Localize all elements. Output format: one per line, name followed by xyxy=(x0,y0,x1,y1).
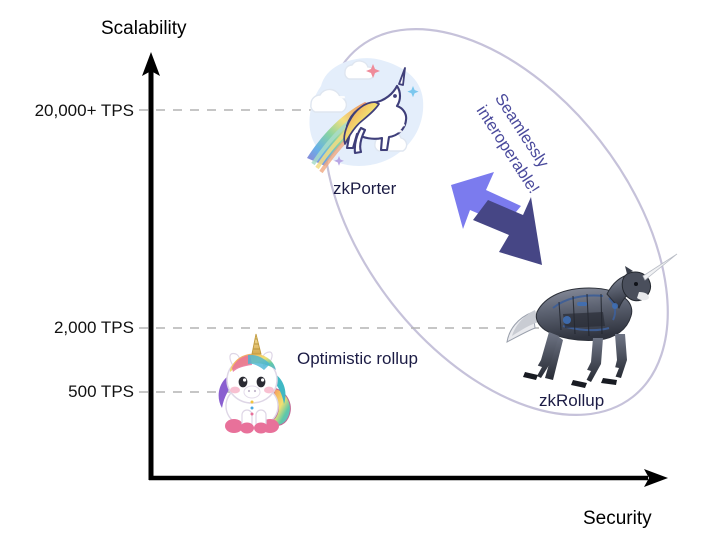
x-axis-title: Security xyxy=(583,508,652,530)
baby-unicorn-icon xyxy=(219,334,291,434)
diagram-vector-layer xyxy=(0,0,720,544)
y-tick-label-20000: 20,000+ TPS xyxy=(0,101,134,121)
node-label-optimistic-rollup: Optimistic rollup xyxy=(297,348,407,370)
zksync-group-ellipse xyxy=(255,0,720,478)
armored-robot-unicorn-icon xyxy=(507,254,677,388)
y-axis-title: Scalability xyxy=(101,18,187,40)
y-tick-label-2000: 2,000 TPS xyxy=(0,318,134,338)
diagram-canvas: Scalability Security 20,000+ TPS 2,000 T… xyxy=(0,0,720,544)
node-label-zkporter: zkPorter xyxy=(333,179,396,199)
y-tick-label-500: 500 TPS xyxy=(0,382,134,402)
node-label-zkrollup: zkRollup xyxy=(539,391,604,411)
flying-rainbow-unicorn-icon xyxy=(307,58,423,172)
